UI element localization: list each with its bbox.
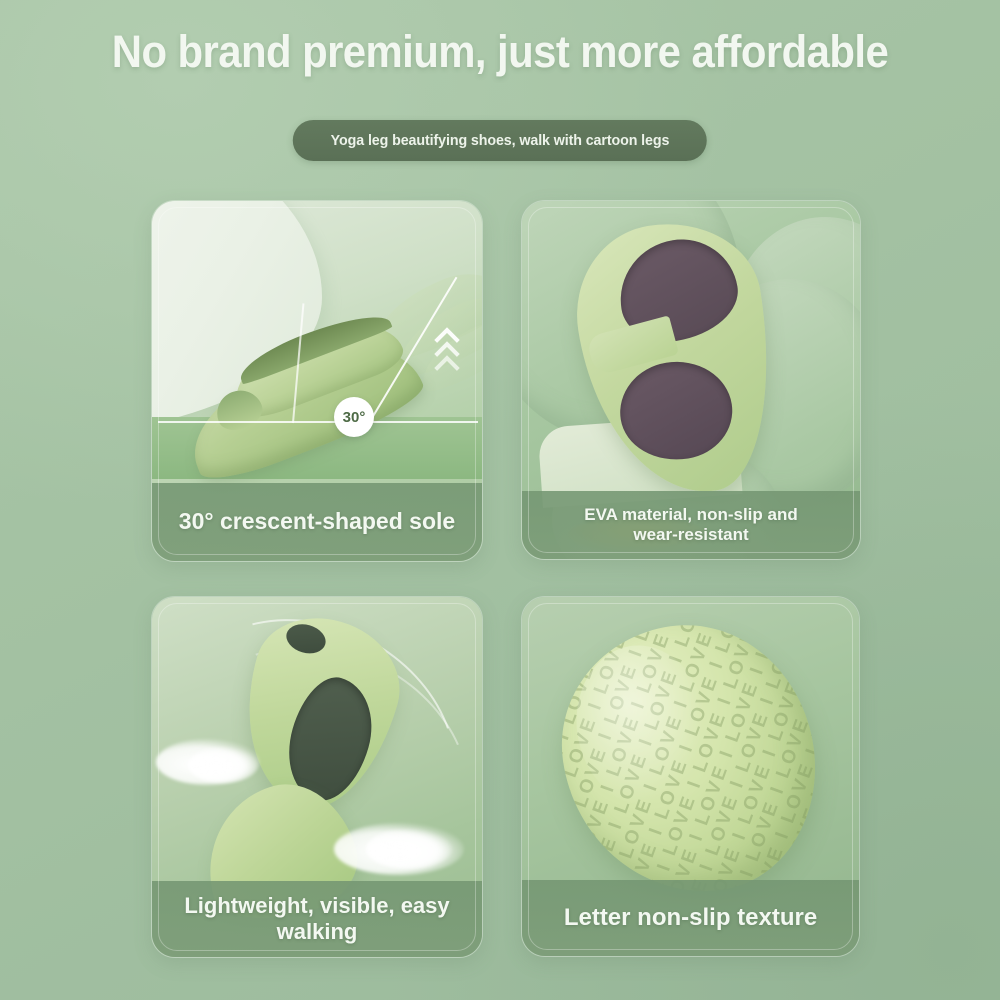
tagline-pill-label: Yoga leg beautifying shoes, walk with ca… xyxy=(331,132,670,149)
feature-card-lightweight[interactable]: Lightweight, visible, easy walking xyxy=(151,596,483,958)
slipper-sole-closeup: I LOVE I LOVE I LOVE I LOVE I LOVE I LOV… xyxy=(547,609,832,909)
feature-caption-text: Lightweight, visible, easy walking xyxy=(162,893,472,945)
chevron-up-icon xyxy=(434,355,459,380)
product-infographic-poster: No brand premium, just more affordable Y… xyxy=(0,0,1000,1000)
feature-caption-bar: Lightweight, visible, easy walking xyxy=(152,881,482,957)
feature-caption-bar: EVA material, non-slip andwear-resistant xyxy=(522,491,860,559)
feature-caption-bar: Letter non-slip texture xyxy=(522,880,859,956)
feature-caption-line-1: EVA material, non-slip and xyxy=(584,505,797,524)
feature-card-eva-material[interactable]: EVA material, non-slip andwear-resistant xyxy=(521,200,861,560)
angle-badge-label: 30° xyxy=(343,409,366,426)
feature-caption-text: 30° crescent-shaped sole xyxy=(179,508,455,535)
baseline-guide xyxy=(158,421,478,423)
feature-caption-bar: 30° crescent-shaped sole xyxy=(152,483,482,561)
cloud-icon xyxy=(366,829,452,869)
feature-card-crescent-sole[interactable]: 30° 30° crescent-shaped sole xyxy=(151,200,483,562)
feature-caption-text: EVA material, non-slip andwear-resistant xyxy=(584,505,797,545)
feature-caption-line-2: wear-resistant xyxy=(633,525,748,544)
motion-arrows-icon xyxy=(434,331,460,385)
tagline-pill: Yoga leg beautifying shoes, walk with ca… xyxy=(293,120,707,161)
feature-card-letter-texture[interactable]: I LOVE I LOVE I LOVE I LOVE I LOVE I LOV… xyxy=(521,596,860,957)
cloud-icon xyxy=(188,747,258,783)
page-title: No brand premium, just more affordable xyxy=(35,26,965,78)
feature-caption-text: Letter non-slip texture xyxy=(564,904,817,932)
angle-badge: 30° xyxy=(334,397,374,437)
